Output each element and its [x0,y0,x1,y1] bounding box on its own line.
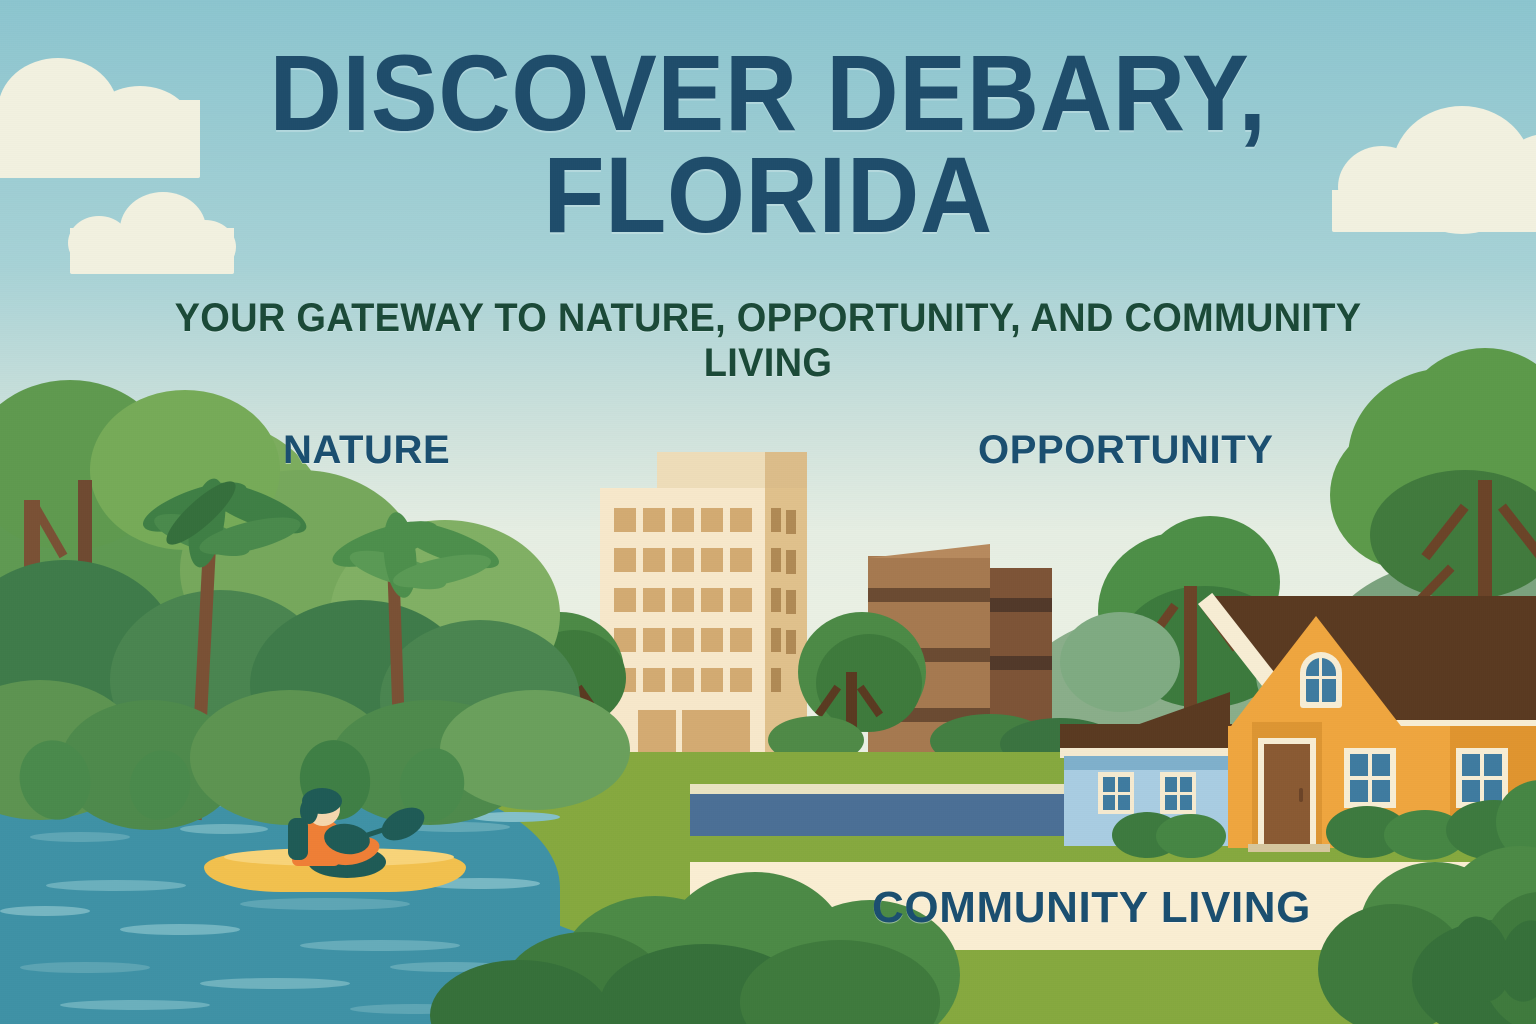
wing-wall-shade [1064,756,1232,770]
tower-window [672,628,694,652]
title-line-2: FLORIDA [54,144,1482,246]
tower-window [701,628,723,652]
wing-window-pane [1165,777,1177,792]
garage-band-side [990,656,1052,670]
tower-window [614,588,636,612]
wing-window-pane [1118,795,1130,810]
garage-roof-slope [868,544,990,558]
tower-window [672,508,694,532]
poster-canvas: DISCOVER DEBARY, FLORIDA YOUR GATEWAY TO… [0,0,1536,1024]
tower-window [614,508,636,532]
tower-side-window [771,588,781,612]
tower-window [701,508,723,532]
kayaker [200,790,480,900]
house-window-pane [1350,780,1368,802]
tower-side-window [786,510,796,534]
title-line-1: DISCOVER DEBARY, [54,42,1482,144]
attic-window-mullion-v [1319,658,1322,702]
house-window-pane [1484,780,1502,802]
door-step [1248,844,1330,852]
tower-side-window [771,668,781,692]
wing-window-pane [1180,795,1192,810]
tower-window [672,588,694,612]
tower-window [643,508,665,532]
paddler-shoulder [288,818,308,860]
tower-door-left [638,710,676,754]
garage-band [868,588,990,602]
tower-window [730,508,752,532]
tower-window [701,548,723,572]
wing-window-pane [1180,777,1192,792]
tower-side-window [771,548,781,572]
house-window-pane [1484,754,1502,776]
label-opportunity: OPPORTUNITY [978,428,1274,473]
house-window-pane [1372,754,1390,776]
front-door [1264,744,1310,848]
paddle-blade [376,801,430,847]
wing-window-pane [1103,777,1115,792]
tower-window [643,588,665,612]
wing-window-pane [1118,777,1130,792]
wing-window-pane [1165,795,1177,810]
tower-window [730,548,752,572]
page-subtitle: YOUR GATEWAY TO NATURE, OPPORTUNITY, AND… [152,296,1383,386]
tower-side-window [786,630,796,654]
tower-side-window [786,550,796,574]
label-nature: NATURE [283,428,450,473]
house-window-pane [1462,780,1480,802]
door-handle [1299,788,1303,802]
page-title: DISCOVER DEBARY, FLORIDA [54,42,1482,245]
tower-penthouse [657,452,765,488]
tower-side-window [786,590,796,614]
attic-window-mullion-h [1306,676,1336,679]
tower-window [701,668,723,692]
paddler-hair [300,798,318,824]
tower-window [643,548,665,572]
tower-window [614,548,636,572]
tower-window [643,668,665,692]
house-window-pane [1350,754,1368,776]
tower-window [643,628,665,652]
tower-window [730,628,752,652]
tower-window [730,668,752,692]
tower-window [672,668,694,692]
house-window-pane [1462,754,1480,776]
tower-side-window [771,508,781,532]
garage-band-side [990,598,1052,612]
tower-window [672,548,694,572]
wing-window-pane [1103,795,1115,810]
tower-side-window [771,628,781,652]
label-community-living: COMMUNITY LIVING [872,883,1311,933]
tower-window [730,588,752,612]
tower-penthouse-side [765,452,807,488]
tower-window [701,588,723,612]
house-window-pane [1372,780,1390,802]
tower-door-right [682,710,750,754]
